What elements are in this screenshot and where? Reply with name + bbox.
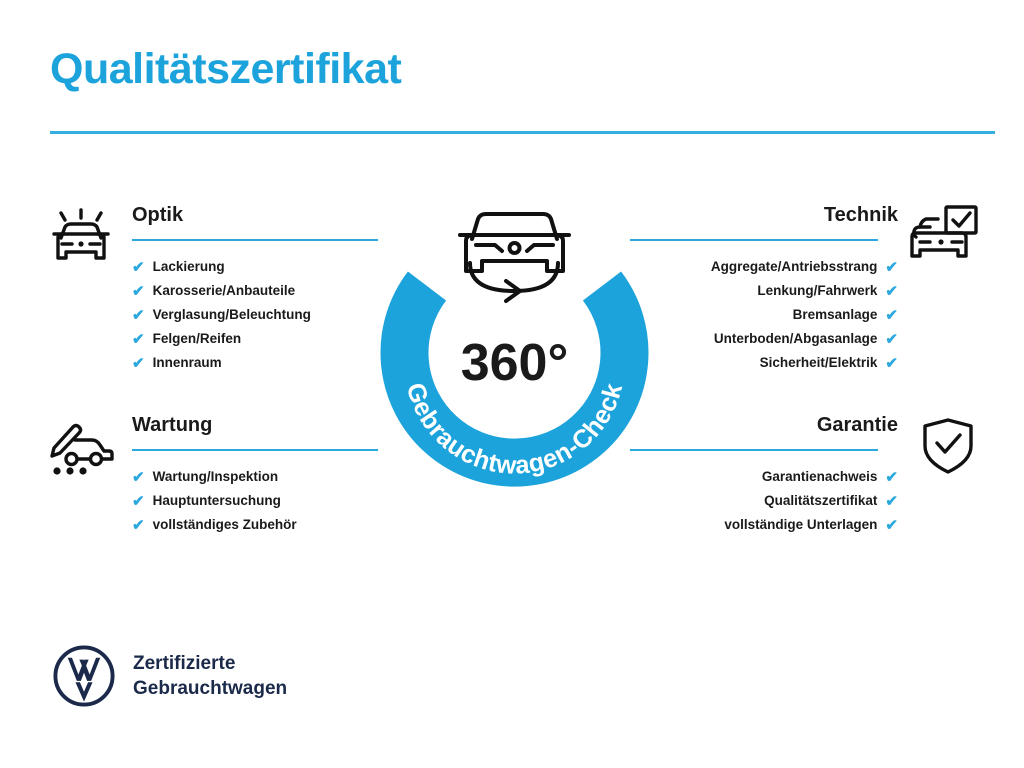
list-item: vollständige Unterlagen✔ <box>630 513 898 537</box>
check-icon: ✔ <box>885 470 898 485</box>
check-icon: ✔ <box>885 284 898 299</box>
list-item: ✔Felgen/Reifen <box>132 327 385 351</box>
list-item: Garantienachweis✔ <box>630 465 898 489</box>
checklist-wartung: ✔Wartung/Inspektion ✔Hauptuntersuchung ✔… <box>132 465 385 537</box>
footer-brand: Zertifizierte Gebrauchtwagen <box>53 645 287 707</box>
check-icon: ✔ <box>885 494 898 509</box>
badge-360-gebrauchtwagen-check: Gebrauchtwagen-Check 360° <box>372 190 657 490</box>
check-icon: ✔ <box>885 308 898 323</box>
list-item-label: vollständige Unterlagen <box>724 513 877 537</box>
list-item: Sicherheit/Elektrik✔ <box>630 351 898 375</box>
check-icon: ✔ <box>132 518 145 533</box>
vw-logo <box>53 645 115 707</box>
list-item-label: Unterboden/Abgasanlage <box>714 327 878 351</box>
section-heading-wartung: Wartung <box>132 415 385 441</box>
footer-line-2: Gebrauchtwagen <box>133 676 287 701</box>
title-divider <box>50 131 995 134</box>
list-item: ✔Lackierung <box>132 255 385 279</box>
list-item-label: Wartung/Inspektion <box>153 465 279 489</box>
section-heading-optik: Optik <box>132 205 385 231</box>
section-divider-technik <box>630 239 878 241</box>
check-icon: ✔ <box>132 260 145 275</box>
section-divider-optik <box>132 239 378 241</box>
list-item: ✔Wartung/Inspektion <box>132 465 385 489</box>
list-item: Aggregate/Antriebsstrang✔ <box>630 255 898 279</box>
footer-line-1: Zertifizierte <box>133 651 287 676</box>
check-icon: ✔ <box>132 470 145 485</box>
check-icon: ✔ <box>132 308 145 323</box>
section-technik: Technik Aggregate/Antriebsstrang✔ Lenkun… <box>630 205 980 375</box>
section-wartung: Wartung ✔Wartung/Inspektion ✔Hauptunters… <box>45 415 385 537</box>
footer-text: Zertifizierte Gebrauchtwagen <box>133 651 287 701</box>
check-icon: ✔ <box>885 356 898 371</box>
check-icon: ✔ <box>885 260 898 275</box>
list-item-label: Qualitätszertifikat <box>764 489 877 513</box>
list-item: ✔Hauptuntersuchung <box>132 489 385 513</box>
check-icon: ✔ <box>132 494 145 509</box>
list-item: ✔Innenraum <box>132 351 385 375</box>
list-item-label: Innenraum <box>153 351 222 375</box>
list-item: Unterboden/Abgasanlage✔ <box>630 327 898 351</box>
list-item-label: Karosserie/Anbauteile <box>153 279 296 303</box>
list-item-label: Hauptuntersuchung <box>153 489 281 513</box>
quality-certificate-page: Qualitätszertifikat <box>0 0 1024 768</box>
list-item-label: Aggregate/Antriebsstrang <box>711 255 878 279</box>
list-item-label: Lenkung/Fahrwerk <box>757 279 877 303</box>
list-item-label: Felgen/Reifen <box>153 327 242 351</box>
section-divider-wartung <box>132 449 378 451</box>
checklist-optik: ✔Lackierung ✔Karosserie/Anbauteile ✔Verg… <box>132 255 385 375</box>
check-icon: ✔ <box>132 332 145 347</box>
check-icon: ✔ <box>132 356 145 371</box>
list-item-label: Garantienachweis <box>762 465 878 489</box>
list-item: Qualitätszertifikat✔ <box>630 489 898 513</box>
checklist-technik: Aggregate/Antriebsstrang✔ Lenkung/Fahrwe… <box>630 255 898 375</box>
section-garantie: Garantie Garantienachweis✔ Qualitätszert… <box>630 415 980 537</box>
checklist-garantie: Garantienachweis✔ Qualitätszertifikat✔ v… <box>630 465 898 537</box>
list-item-label: Lackierung <box>153 255 225 279</box>
section-divider-garantie <box>630 449 878 451</box>
list-item: ✔Verglasung/Beleuchtung <box>132 303 385 327</box>
list-item: Lenkung/Fahrwerk✔ <box>630 279 898 303</box>
list-item: ✔Karosserie/Anbauteile <box>132 279 385 303</box>
section-optik: Optik ✔Lackierung ✔Karosserie/Anbauteile… <box>45 205 385 375</box>
check-icon: ✔ <box>132 284 145 299</box>
list-item-label: Sicherheit/Elektrik <box>760 351 878 375</box>
list-item: ✔vollständiges Zubehör <box>132 513 385 537</box>
page-title: Qualitätszertifikat <box>50 46 401 93</box>
section-heading-technik: Technik <box>630 205 898 231</box>
list-item-label: Verglasung/Beleuchtung <box>153 303 311 327</box>
car-rotate-icon <box>460 214 569 301</box>
section-heading-garantie: Garantie <box>630 415 898 441</box>
list-item-label: vollständiges Zubehör <box>153 513 297 537</box>
check-icon: ✔ <box>885 332 898 347</box>
check-icon: ✔ <box>885 518 898 533</box>
list-item: Bremsanlage✔ <box>630 303 898 327</box>
list-item-label: Bremsanlage <box>793 303 878 327</box>
